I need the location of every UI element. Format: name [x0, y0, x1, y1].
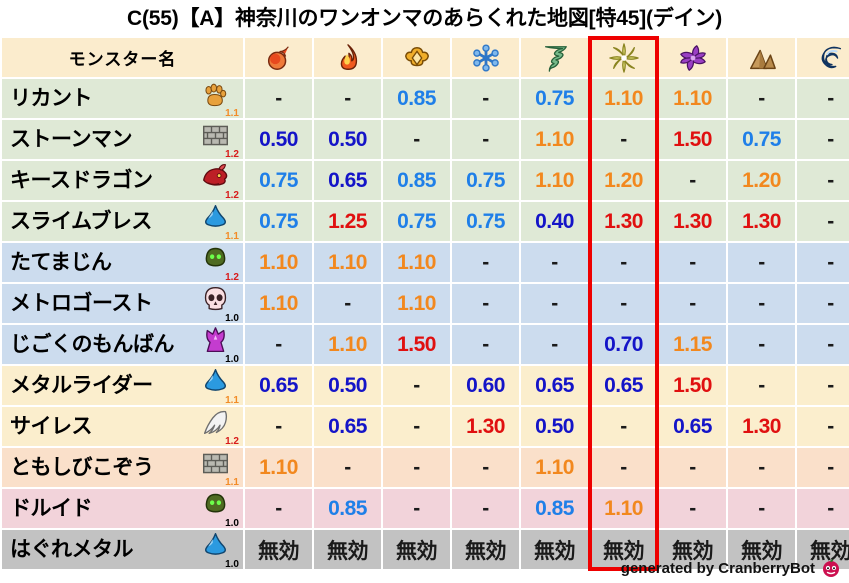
- monster-name-label: ストーンマン: [10, 121, 197, 159]
- resistance-cell[interactable]: -: [245, 407, 312, 446]
- resistance-cell[interactable]: -: [383, 407, 450, 446]
- monster-name-label: メトロゴースト: [10, 285, 197, 323]
- wave-icon: [797, 38, 849, 77]
- monster-name-label: はぐれメタル: [10, 531, 197, 569]
- monster-sprite-badge: 1.2: [199, 244, 239, 282]
- resistance-cell[interactable]: 1.10: [383, 284, 450, 323]
- monster-name-cell[interactable]: はぐれメタル1.0: [2, 530, 243, 569]
- resistance-cell[interactable]: -: [452, 120, 519, 159]
- column-header-meteorite[interactable]: [245, 38, 312, 77]
- resistance-cell[interactable]: -: [590, 284, 657, 323]
- monster-name-label: サイレス: [10, 408, 197, 446]
- resistance-cell[interactable]: -: [797, 489, 849, 528]
- monster-name-cell[interactable]: スライムブレス1.1: [2, 202, 243, 241]
- resistance-cell[interactable]: -: [797, 202, 849, 241]
- resistance-cell[interactable]: -: [797, 161, 849, 200]
- resistance-cell[interactable]: -: [659, 448, 726, 487]
- resistance-cell[interactable]: -: [659, 161, 726, 200]
- column-header-snowflake[interactable]: [452, 38, 519, 77]
- meteorite-icon: [245, 38, 312, 77]
- column-header-monster-name: モンスター名: [2, 38, 243, 77]
- resistance-cell[interactable]: -: [797, 325, 849, 364]
- resistance-cell[interactable]: -: [590, 407, 657, 446]
- resistance-cell[interactable]: 0.75: [245, 202, 312, 241]
- table-body: リカント1.1--0.85-0.751.101.10--ストーンマン1.20.5…: [2, 79, 849, 569]
- monster-name-cell[interactable]: キースドラゴン1.2: [2, 161, 243, 200]
- table-header: モンスター名: [2, 38, 849, 77]
- resistance-cell[interactable]: -: [452, 79, 519, 118]
- resistance-cell[interactable]: 0.60: [452, 366, 519, 405]
- table-row: サイレス1.2-0.65-1.300.50-0.651.30-: [2, 407, 849, 446]
- monster-name-cell[interactable]: サイレス1.2: [2, 407, 243, 446]
- monster-level-label: 1.0: [225, 560, 239, 570]
- monster-name-cell[interactable]: ドルイド1.0: [2, 489, 243, 528]
- monster-sprite-badge: 1.1: [199, 449, 239, 487]
- table-row: メタルライダー1.10.650.50-0.600.650.651.50--: [2, 366, 849, 405]
- slime-icon: [201, 367, 230, 396]
- monster-name-label: ともしびこぞう: [10, 449, 197, 487]
- resistance-cell[interactable]: 1.25: [314, 202, 381, 241]
- resistance-cell[interactable]: 1.50: [659, 366, 726, 405]
- resistance-cell[interactable]: 0.75: [521, 79, 588, 118]
- wing-icon: [201, 408, 230, 437]
- monster-sprite-badge: 1.1: [199, 80, 239, 118]
- resistance-cell[interactable]: -: [314, 79, 381, 118]
- resistance-cell[interactable]: -: [590, 243, 657, 282]
- resistance-cell[interactable]: -: [521, 284, 588, 323]
- monster-sprite-badge: 1.0: [199, 326, 239, 364]
- resistance-cell[interactable]: 0.75: [728, 120, 795, 159]
- column-header-mountain[interactable]: [728, 38, 795, 77]
- resistance-cell[interactable]: 0.50: [314, 120, 381, 159]
- resistance-cell[interactable]: -: [797, 284, 849, 323]
- monster-name-label: じごくのもんばん: [10, 326, 197, 364]
- paw-icon: [201, 80, 230, 109]
- greenslime-icon: [201, 244, 230, 273]
- resistance-cell[interactable]: 1.30: [728, 407, 795, 446]
- resistance-cell[interactable]: 0.70: [590, 325, 657, 364]
- brick-icon: [201, 121, 230, 150]
- resistance-cell[interactable]: -: [797, 407, 849, 446]
- column-header-lightburst[interactable]: [590, 38, 657, 77]
- resistance-cell[interactable]: 無効: [521, 530, 588, 569]
- resistance-cell[interactable]: 無効: [452, 530, 519, 569]
- resistance-cell[interactable]: -: [590, 448, 657, 487]
- monster-name-cell[interactable]: リカント1.1: [2, 79, 243, 118]
- monster-name-header-label: モンスター名: [69, 50, 177, 69]
- resistance-cell[interactable]: 1.30: [590, 202, 657, 241]
- resistance-cell[interactable]: -: [521, 243, 588, 282]
- resistance-cell[interactable]: -: [245, 489, 312, 528]
- resistance-cell[interactable]: 0.85: [314, 489, 381, 528]
- resistance-cell[interactable]: 1.10: [245, 243, 312, 282]
- column-header-tornado[interactable]: [521, 38, 588, 77]
- monster-sprite-badge: 1.1: [199, 203, 239, 241]
- resistance-cell[interactable]: 0.65: [521, 366, 588, 405]
- table-row: キースドラゴン1.20.750.650.850.751.101.20-1.20-: [2, 161, 849, 200]
- cranberry-bot-icon: [821, 558, 841, 578]
- resistance-cell[interactable]: -: [728, 366, 795, 405]
- mountain-icon: [728, 38, 795, 77]
- resistance-cell[interactable]: 0.65: [590, 366, 657, 405]
- resistance-cell[interactable]: 1.10: [245, 284, 312, 323]
- column-header-wave[interactable]: [797, 38, 849, 77]
- tornado-icon: [521, 38, 588, 77]
- resistance-cell[interactable]: -: [314, 284, 381, 323]
- resistance-cell[interactable]: 0.75: [452, 161, 519, 200]
- page-root: C(55)【A】神奈川のワンオンマのあらくれた地図[特45](デイン) モンスタ…: [0, 0, 849, 583]
- monster-name-label: ドルイド: [10, 490, 197, 528]
- resistance-cell[interactable]: -: [659, 243, 726, 282]
- trident-icon: [201, 326, 230, 355]
- resistance-cell[interactable]: 0.40: [521, 202, 588, 241]
- resistance-cell[interactable]: 1.30: [728, 202, 795, 241]
- monster-level-label: 1.0: [225, 314, 239, 324]
- explosion-icon: [383, 38, 450, 77]
- resistance-cell[interactable]: 無効: [314, 530, 381, 569]
- monster-sprite-badge: 1.2: [199, 162, 239, 200]
- resistance-cell[interactable]: -: [728, 79, 795, 118]
- table-row: たてまじん1.21.101.101.10------: [2, 243, 849, 282]
- table-row: じごくのもんばん1.0-1.101.50--0.701.15--: [2, 325, 849, 364]
- resistance-cell[interactable]: -: [383, 120, 450, 159]
- monster-name-label: メタルライダー: [10, 367, 197, 405]
- resistance-cell[interactable]: 1.30: [452, 407, 519, 446]
- resistance-table: モンスター名 リカント1.1--0.85-0.751.101.10--ストーンマ…: [0, 36, 849, 571]
- monster-name-label: キースドラゴン: [10, 162, 197, 200]
- monster-name-cell[interactable]: じごくのもんばん1.0: [2, 325, 243, 364]
- monster-name-cell[interactable]: メトロゴースト1.0: [2, 284, 243, 323]
- resistance-cell[interactable]: 0.75: [383, 202, 450, 241]
- resistance-cell[interactable]: 無効: [245, 530, 312, 569]
- resistance-cell[interactable]: -: [728, 243, 795, 282]
- resistance-cell[interactable]: -: [728, 489, 795, 528]
- monster-name-label: リカント: [10, 80, 197, 118]
- resistance-cell[interactable]: 0.50: [314, 366, 381, 405]
- lightburst-icon: [590, 38, 657, 77]
- brick-icon: [201, 449, 230, 478]
- resistance-cell[interactable]: 1.15: [659, 325, 726, 364]
- snowflake-icon: [452, 38, 519, 77]
- resistance-cell[interactable]: 0.65: [245, 366, 312, 405]
- monster-level-label: 1.2: [225, 437, 239, 447]
- resistance-cell[interactable]: -: [659, 489, 726, 528]
- monster-sprite-badge: 1.0: [199, 490, 239, 528]
- table-row: ともしびこぞう1.11.10---1.10----: [2, 448, 849, 487]
- resistance-cell[interactable]: 0.50: [245, 120, 312, 159]
- resistance-cell[interactable]: -: [797, 243, 849, 282]
- resistance-cell[interactable]: 1.10: [590, 79, 657, 118]
- monster-level-label: 1.0: [225, 519, 239, 529]
- resistance-cell[interactable]: 1.20: [590, 161, 657, 200]
- resistance-cell[interactable]: 無効: [383, 530, 450, 569]
- resistance-cell[interactable]: 1.50: [659, 120, 726, 159]
- resistance-cell[interactable]: 1.20: [728, 161, 795, 200]
- resistance-cell[interactable]: 0.65: [314, 407, 381, 446]
- resistance-cell[interactable]: 0.85: [521, 489, 588, 528]
- resistance-cell[interactable]: 1.10: [314, 325, 381, 364]
- resistance-cell[interactable]: 1.10: [245, 448, 312, 487]
- darkswirl-icon: [659, 38, 726, 77]
- resistance-cell[interactable]: 1.50: [383, 325, 450, 364]
- resistance-cell[interactable]: 0.65: [314, 161, 381, 200]
- table-row: スライムブレス1.10.751.250.750.750.401.301.301.…: [2, 202, 849, 241]
- monster-level-label: 1.0: [225, 355, 239, 365]
- monster-name-cell[interactable]: ともしびこぞう1.1: [2, 448, 243, 487]
- monster-sprite-badge: 1.0: [199, 285, 239, 323]
- monster-name-cell[interactable]: メタルライダー1.1: [2, 366, 243, 405]
- monster-name-label: たてまじん: [10, 244, 197, 282]
- resistance-cell[interactable]: -: [797, 79, 849, 118]
- table-row: ドルイド1.0-0.85--0.851.10---: [2, 489, 849, 528]
- monster-level-label: 1.2: [225, 191, 239, 201]
- resistance-cell[interactable]: -: [590, 120, 657, 159]
- monster-name-label: スライムブレス: [10, 203, 197, 241]
- slime-icon: [201, 203, 230, 232]
- column-header-darkswirl[interactable]: [659, 38, 726, 77]
- column-header-flame[interactable]: [314, 38, 381, 77]
- table-row: ストーンマン1.20.500.50--1.10-1.500.75-: [2, 120, 849, 159]
- flame-icon: [314, 38, 381, 77]
- skull-icon: [201, 285, 230, 314]
- monster-name-cell[interactable]: たてまじん1.2: [2, 243, 243, 282]
- monster-sprite-badge: 1.0: [199, 531, 239, 569]
- resistance-cell[interactable]: -: [797, 366, 849, 405]
- resistance-cell[interactable]: -: [245, 79, 312, 118]
- resistance-cell[interactable]: 1.10: [314, 243, 381, 282]
- monster-sprite-badge: 1.1: [199, 367, 239, 405]
- monster-level-label: 1.1: [225, 396, 239, 406]
- resistance-cell[interactable]: -: [452, 243, 519, 282]
- resistance-cell[interactable]: -: [452, 448, 519, 487]
- footer-text: generated by CranberryBot: [621, 560, 815, 577]
- monster-level-label: 1.1: [225, 478, 239, 488]
- resistance-cell[interactable]: 1.10: [659, 79, 726, 118]
- resistance-cell[interactable]: -: [383, 366, 450, 405]
- monster-level-label: 1.1: [225, 232, 239, 242]
- monster-level-label: 1.2: [225, 273, 239, 283]
- footer-credit: generated by CranberryBot: [621, 558, 841, 578]
- monster-sprite-badge: 1.2: [199, 408, 239, 446]
- resistance-cell[interactable]: -: [452, 489, 519, 528]
- greenslime-icon: [201, 490, 230, 519]
- monster-level-label: 1.2: [225, 150, 239, 160]
- page-title: C(55)【A】神奈川のワンオンマのあらくれた地図[特45](デイン): [0, 4, 849, 34]
- resistance-cell[interactable]: -: [383, 489, 450, 528]
- resistance-cell[interactable]: -: [452, 284, 519, 323]
- resistance-cell[interactable]: -: [245, 325, 312, 364]
- resistance-cell[interactable]: 1.10: [521, 448, 588, 487]
- resistance-cell[interactable]: 0.65: [659, 407, 726, 446]
- resistance-cell[interactable]: -: [728, 284, 795, 323]
- monster-sprite-badge: 1.2: [199, 121, 239, 159]
- resistance-cell[interactable]: 0.50: [521, 407, 588, 446]
- resistance-cell[interactable]: -: [728, 448, 795, 487]
- table-row: リカント1.1--0.85-0.751.101.10--: [2, 79, 849, 118]
- resistance-cell[interactable]: 1.10: [590, 489, 657, 528]
- resistance-cell[interactable]: -: [659, 284, 726, 323]
- resistance-cell[interactable]: 0.75: [452, 202, 519, 241]
- resistance-cell[interactable]: -: [728, 325, 795, 364]
- monster-level-label: 1.1: [225, 109, 239, 119]
- table-row: メトロゴースト1.01.10-1.10------: [2, 284, 849, 323]
- resistance-cell[interactable]: 0.75: [245, 161, 312, 200]
- resistance-cell[interactable]: -: [452, 325, 519, 364]
- resistance-cell[interactable]: -: [521, 325, 588, 364]
- slime-icon: [201, 531, 230, 560]
- resistance-cell[interactable]: 0.85: [383, 161, 450, 200]
- resistance-cell[interactable]: 1.10: [383, 243, 450, 282]
- resistance-cell[interactable]: -: [383, 448, 450, 487]
- resistance-cell[interactable]: 0.85: [383, 79, 450, 118]
- resistance-cell[interactable]: 1.10: [521, 120, 588, 159]
- resistance-cell[interactable]: 1.30: [659, 202, 726, 241]
- monster-name-cell[interactable]: ストーンマン1.2: [2, 120, 243, 159]
- resistance-cell[interactable]: 1.10: [521, 161, 588, 200]
- table-header-row: モンスター名: [2, 38, 849, 77]
- column-header-explosion[interactable]: [383, 38, 450, 77]
- resistance-cell[interactable]: -: [797, 448, 849, 487]
- dragon-icon: [201, 162, 230, 191]
- resistance-cell[interactable]: -: [797, 120, 849, 159]
- resistance-cell[interactable]: -: [314, 448, 381, 487]
